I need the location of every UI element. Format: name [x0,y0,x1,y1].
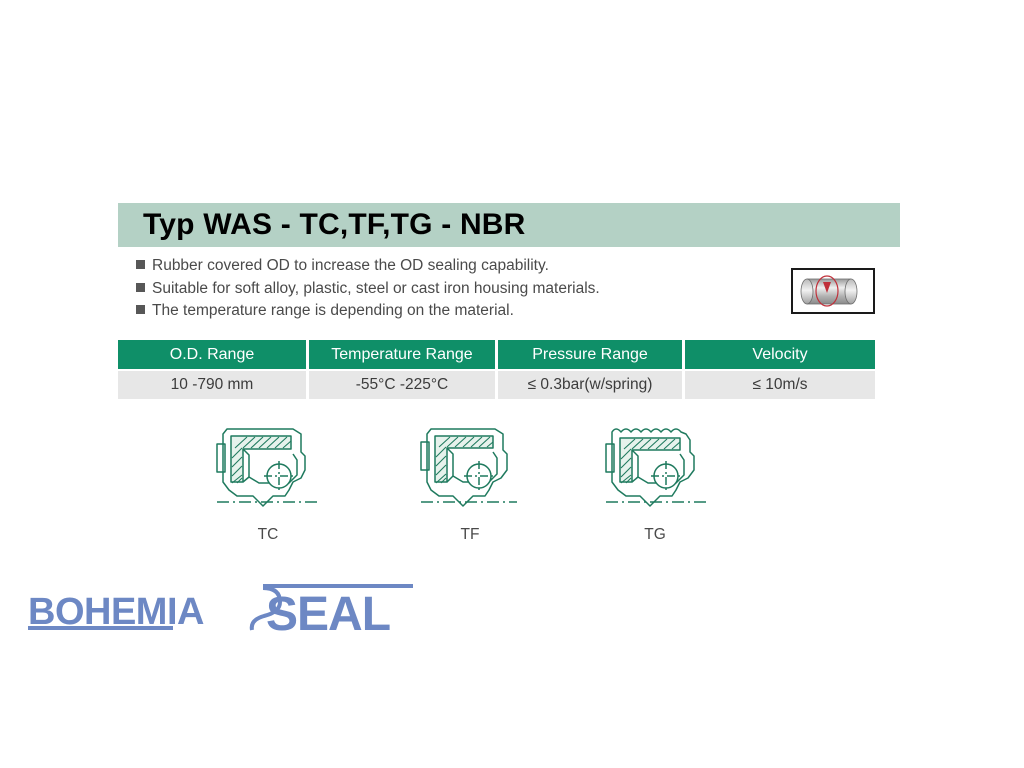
cell-temperature-range: -55°C -225°C [309,369,498,399]
seal-diagram-tg: TG [580,420,730,544]
cell-velocity: ≤ 10m/s [685,369,875,399]
seal-cross-section-tc-graphic [193,420,343,524]
list-item: Rubber covered OD to increase the OD sea… [136,256,756,275]
seal-diagram-tc: TC [193,420,343,544]
column-header-od-range: O.D. Range [118,340,309,369]
logo-secondary-text: SEAL [266,588,390,640]
company-logo: BOHEMIA SEAL [18,578,418,640]
seal-diagram-tf: TF [395,420,545,544]
feature-text: Suitable for soft alloy, plastic, steel … [152,279,600,298]
seal-label-tg: TG [580,526,730,544]
column-header-temperature-range: Temperature Range [309,340,498,369]
seal-label-tf: TF [395,526,545,544]
table-row: 10 -790 mm -55°C -225°C ≤ 0.3bar(w/sprin… [118,369,875,399]
cell-pressure-range: ≤ 0.3bar(w/spring) [498,369,685,399]
list-item: The temperature range is depending on th… [136,301,756,320]
list-item: Suitable for soft alloy, plastic, steel … [136,279,756,298]
datasheet-page: Typ WAS - TC,TF,TG - NBR Rubber covered … [0,0,1024,768]
column-header-velocity: Velocity [685,340,875,369]
cell-od-range: 10 -790 mm [118,369,309,399]
table-header-row: O.D. Range Temperature Range Pressure Ra… [118,340,875,369]
column-header-pressure-range: Pressure Range [498,340,685,369]
feature-text: Rubber covered OD to increase the OD sea… [152,256,549,275]
feature-text: The temperature range is depending on th… [152,301,514,320]
logo-primary-text: BOHEMIA [28,591,204,633]
product-title-band: Typ WAS - TC,TF,TG - NBR [118,203,900,247]
page-title: Typ WAS - TC,TF,TG - NBR [118,208,526,242]
square-bullet-icon [136,283,145,292]
square-bullet-icon [136,305,145,314]
feature-list: Rubber covered OD to increase the OD sea… [136,256,756,324]
seal-label-tc: TC [193,526,343,544]
specification-table: O.D. Range Temperature Range Pressure Ra… [118,340,875,399]
seal-cross-section-tf-graphic [395,420,545,524]
seal-cross-section-tg-graphic [580,420,730,524]
shaft-rotation-graphic [793,270,873,312]
bohemia-seal-logo-graphic: BOHEMIA SEAL [18,578,418,640]
square-bullet-icon [136,260,145,269]
shaft-rotation-icon [791,268,875,314]
